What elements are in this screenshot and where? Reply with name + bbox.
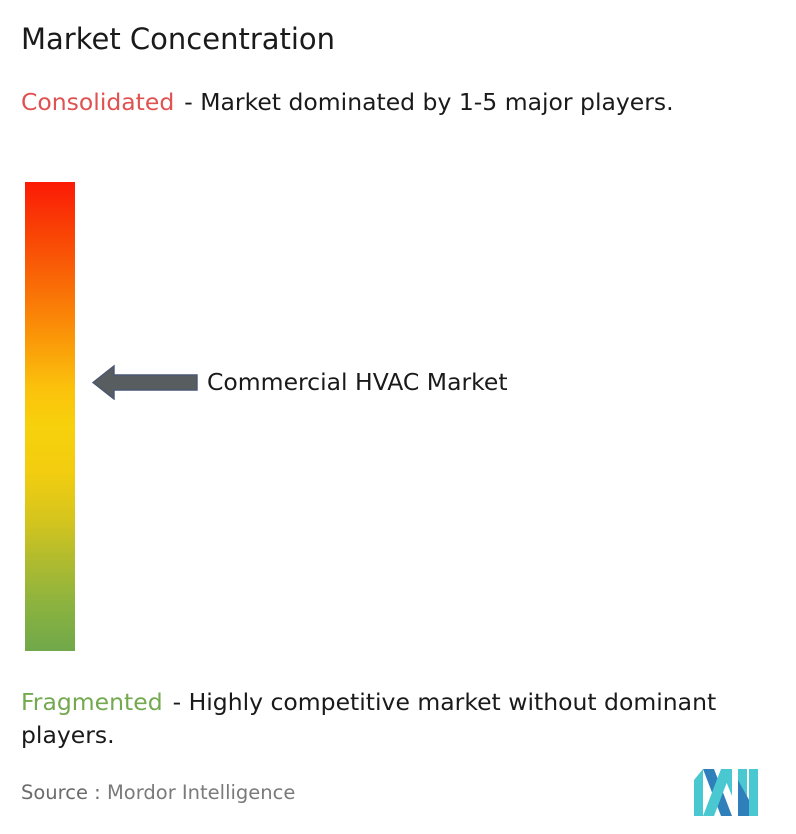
consolidated-keyword: Consolidated: [21, 88, 174, 116]
mordor-intelligence-logo: [694, 769, 758, 816]
source-value: Mordor Intelligence: [107, 781, 295, 804]
fragmented-caption: Fragmented- Highly competitive market wi…: [21, 686, 796, 752]
concentration-gradient-bar: [25, 182, 75, 651]
page-title: Market Concentration: [21, 20, 335, 58]
consolidated-description: - Market dominated by 1-5 major players.: [184, 88, 673, 116]
market-marker-label: Commercial HVAC Market: [207, 366, 508, 398]
market-concentration-chart: Market Concentration Consolidated- Marke…: [0, 0, 796, 834]
left-arrow-icon: [92, 364, 198, 400]
fragmented-keyword: Fragmented: [21, 688, 163, 716]
source-label: Source :: [21, 781, 101, 804]
source-attribution: Source : Mordor Intelligence: [21, 779, 295, 807]
consolidated-caption: Consolidated- Market dominated by 1-5 ma…: [21, 86, 781, 119]
